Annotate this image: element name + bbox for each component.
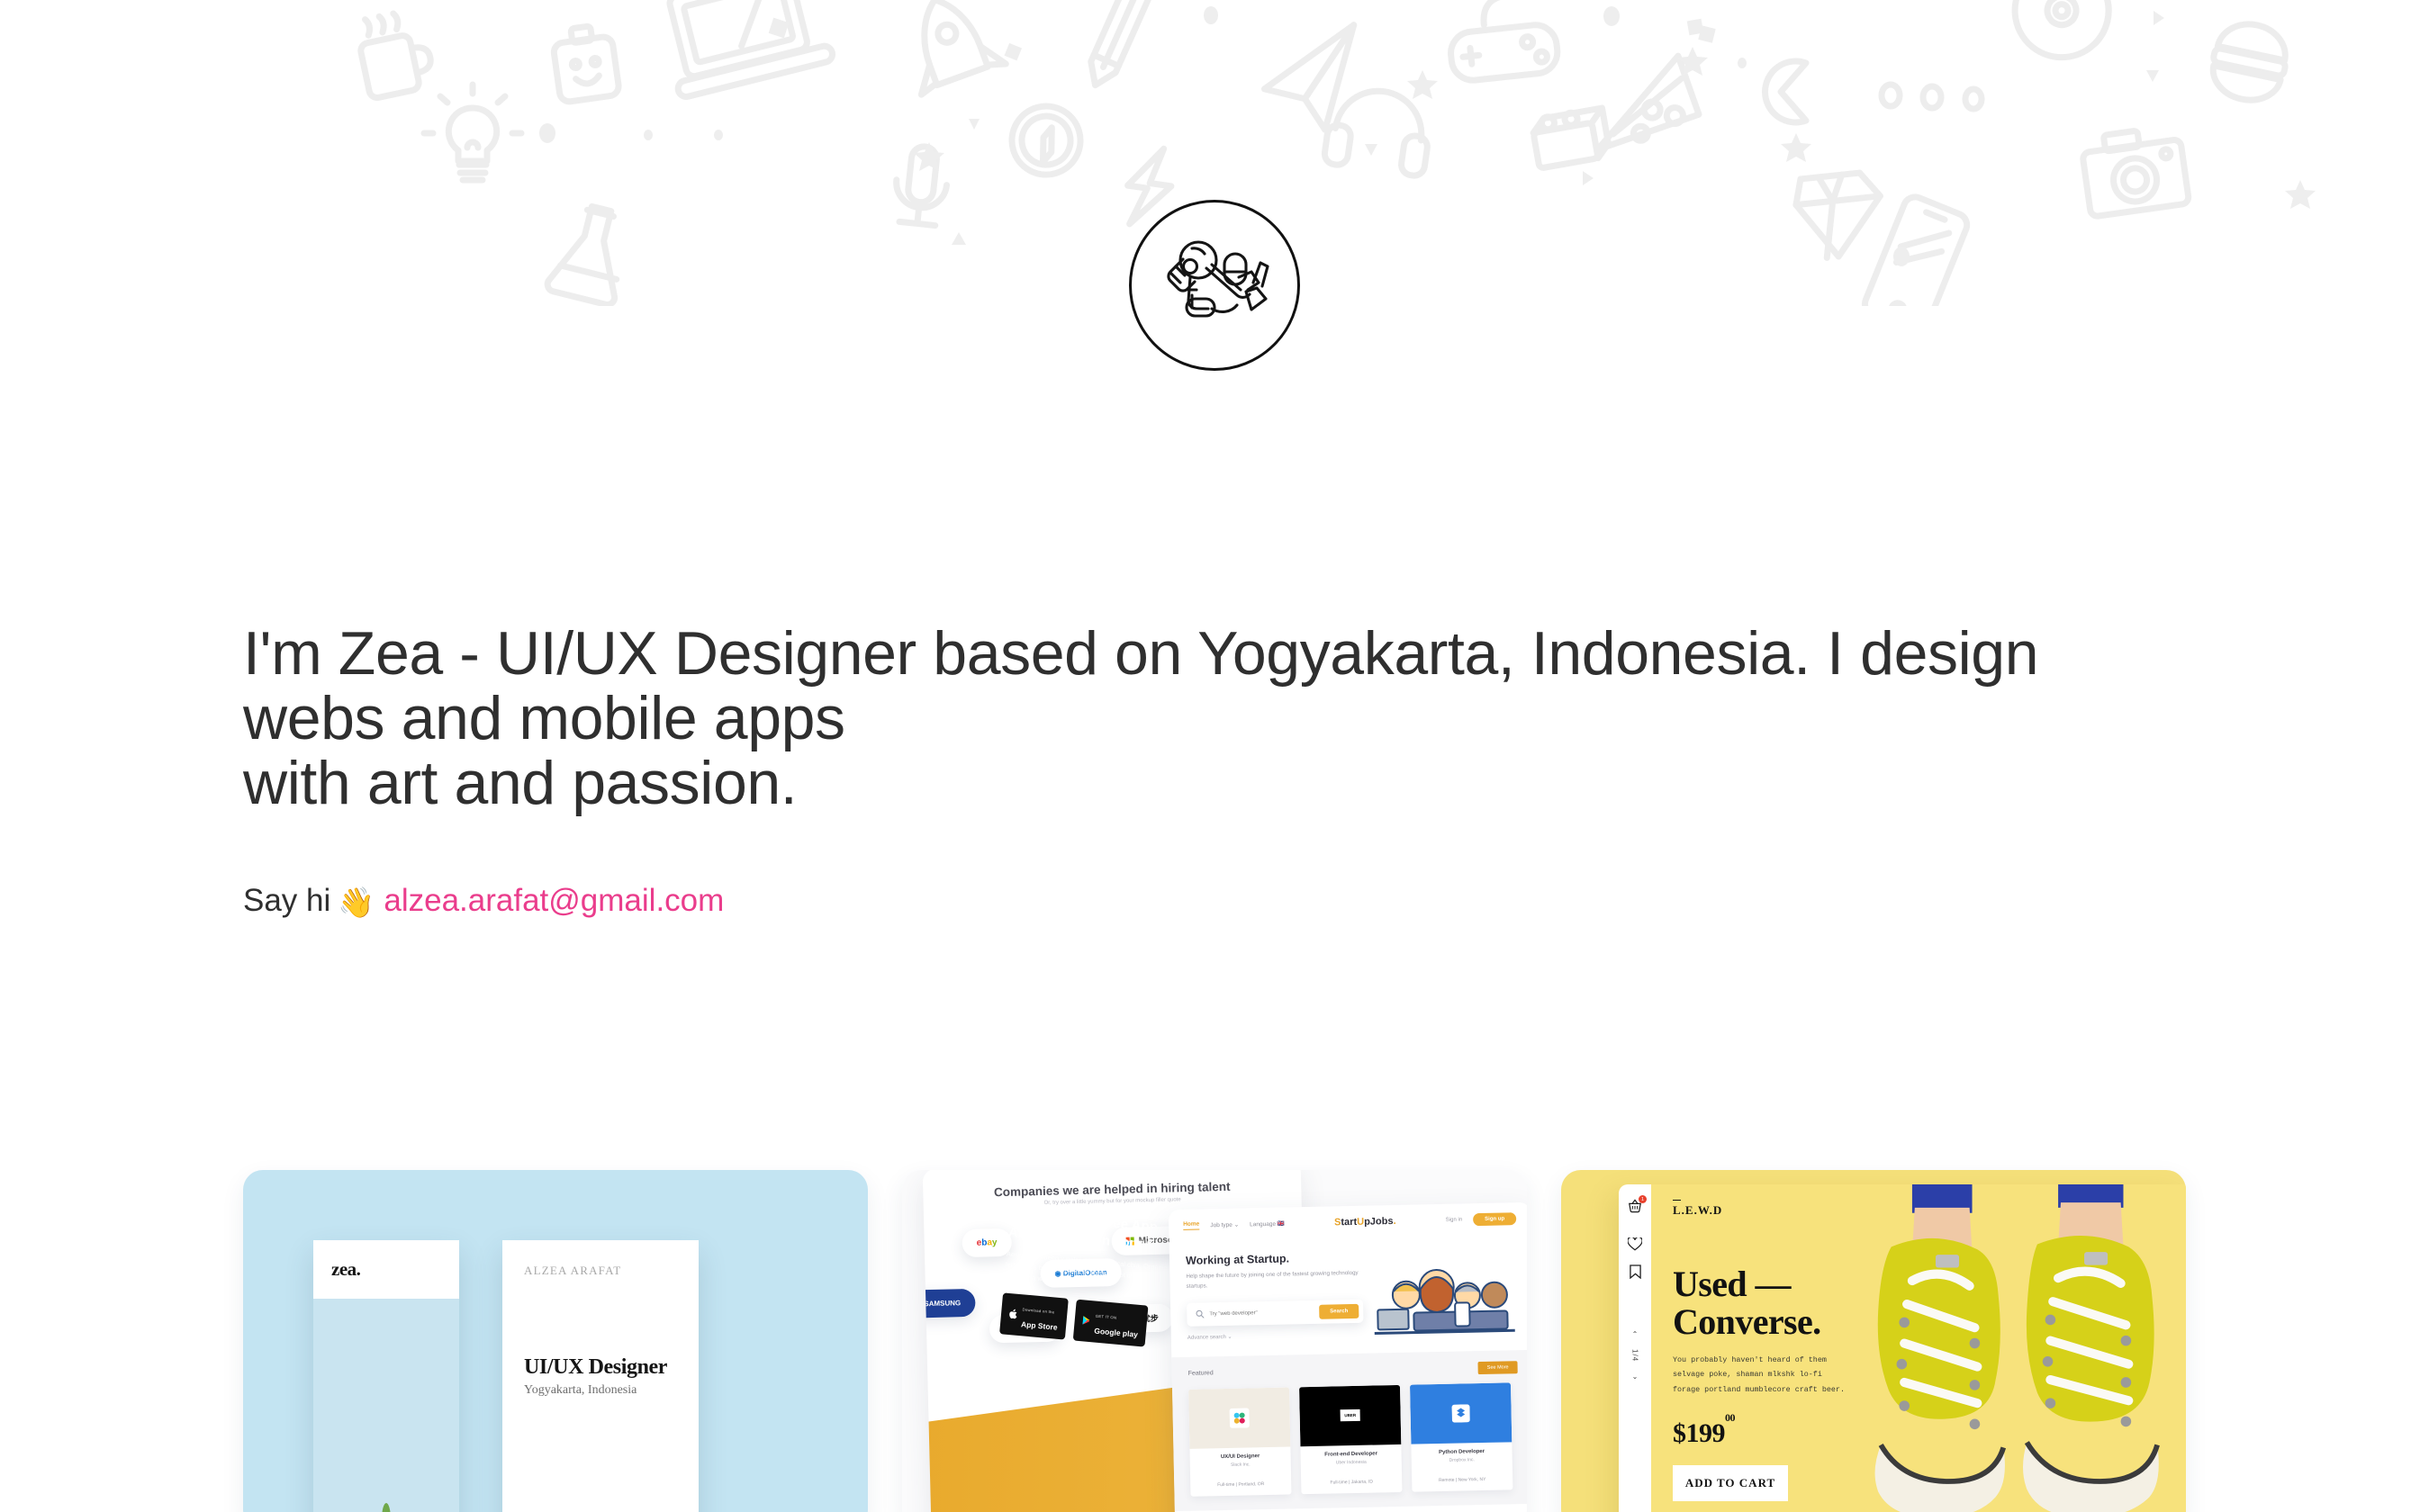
apple-icon [1009,1309,1018,1319]
square-icon [769,18,1716,61]
job-card-image [1188,1387,1290,1448]
chevron-down-icon: ⌄ [1227,1334,1232,1339]
diamond-icon [1793,171,1886,260]
job-company: Dropbox Inc. [1419,1456,1505,1463]
job-meta: Remote | New York, NY [1419,1476,1505,1483]
pagination-down-icon[interactable]: ⌄ [1632,1372,1639,1381]
succulent-photo [313,1299,459,1512]
sign-in-link[interactable]: Sign in [1446,1217,1462,1222]
logo-pill-ebay: ebay [962,1228,1012,1257]
sign-up-button[interactable]: Sign up [1473,1212,1516,1226]
site-hero: Working at Startup. Help shape the futur… [1169,1235,1527,1357]
app-store-badge[interactable]: Download on the App Store [999,1292,1068,1339]
job-title: UX/UI Designer [1197,1453,1284,1460]
burger-icon [2207,18,2293,107]
see-more-button[interactable]: See More [1478,1361,1518,1374]
slack-icon [1229,1408,1249,1427]
project-card-shop[interactable]: 1 ⌃ 1/4 ⌄ L.E. [1561,1170,2186,1512]
job-company: Uber Indonesia [1308,1459,1395,1466]
google-play-badge-small: GET IT ON [1096,1313,1117,1319]
cart-icon[interactable]: 1 [1628,1199,1642,1218]
lego-head-icon [551,23,619,103]
project-cards-row: zea. ALZEA ARAFAT [243,1170,2177,1512]
card-owner-name: ALZEA ARAFAT [524,1264,677,1278]
job-title: Front-end Developer [1308,1451,1395,1458]
nav-item-home[interactable]: Home [1183,1221,1199,1230]
avatar-ring [1129,200,1300,371]
camera-icon [2081,125,2190,217]
chevron-down-icon: ⌄ [1234,1222,1240,1228]
shop-page-mockup: 1 ⌃ 1/4 ⌄ L.E. [1619,1184,2186,1512]
pagination-value: 1/4 [1631,1349,1639,1362]
job-meta: Full-time | Jakarta, ID [1308,1479,1395,1486]
flask-icon [546,201,636,306]
microphone-icon [892,144,951,226]
pacman-icon [1765,61,1806,122]
coffee-mug-icon [355,8,437,99]
job-search-button[interactable]: Search [1319,1304,1359,1319]
gamepad-icon [1445,0,1559,82]
job-card-image [1410,1382,1512,1444]
job-card[interactable]: Python Developer Dropbox Inc. Remote | N… [1410,1382,1512,1491]
lightbulb-icon [424,85,521,180]
pizza-icon [1598,45,1709,166]
compass-icon [1004,98,1088,183]
job-search-bar[interactable]: Search [1187,1299,1364,1326]
play-icon [1082,1315,1091,1326]
advance-search-toggle[interactable]: Advance search ⌄ [1187,1330,1364,1340]
cart-count-badge: 1 [1639,1195,1647,1203]
smartphone-icon [1862,193,1971,306]
flag-icon: 🇬🇧 [1278,1221,1285,1228]
job-company: Slack Inc. [1197,1461,1284,1468]
brand-logo: zea. [331,1258,360,1281]
project-card-branding[interactable]: zea. ALZEA ARAFAT [243,1170,868,1512]
shop-brand-logo: L.E.W.D [1673,1203,1722,1218]
nav-item-language[interactable]: Language 🇬🇧 [1250,1220,1285,1228]
paper-plane-icon [1260,25,1361,134]
pagination-up-icon[interactable]: ⌃ [1632,1330,1639,1338]
contact-label: Say hi [243,880,330,922]
headphones-icon [1323,85,1434,177]
app-store-badge-small: Download on the [1022,1307,1054,1314]
featured-job-cards: UX/UI Designer Slack Inc. Full-time | Po… [1188,1382,1520,1497]
startupjobs-site-mockup: Home Job type ⌄ Language 🇬🇧 StartUpJobs.… [1169,1202,1527,1512]
dropbox-icon [1451,1404,1469,1422]
product-photo [1860,1184,2186,1512]
avatar [1129,200,1300,371]
job-card[interactable]: UBER Front-end Developer Uber Indonesia … [1299,1385,1402,1494]
job-card-image: UBER [1299,1385,1401,1446]
google-play-badge[interactable]: GET IT ON Google play [1072,1299,1148,1346]
business-card-front-header: zea. [313,1240,459,1299]
product-price-cents: 00 [1725,1411,1735,1424]
shop-pagination: ⌃ 1/4 ⌄ [1631,1330,1639,1381]
featured-label: Featured [1188,1370,1214,1377]
astronaut-illustration-icon [1156,227,1273,344]
contact-line: Say hi 👋 alzea.arafat@gmail.com [243,880,2179,922]
site-logo: StartUpJobs. [1334,1216,1396,1228]
rocket-icon [892,0,1006,94]
pencil-icon [1083,0,1151,91]
site-hero-body: Help shape the future by joining one of … [1186,1269,1362,1292]
product-price-main: $199 [1673,1418,1725,1448]
bookmark-icon[interactable] [1630,1264,1641,1283]
card-owner-role: UI/UX Designer [524,1355,677,1380]
product-description: You probably haven't heard of them selva… [1673,1353,1848,1397]
heart-icon[interactable] [1628,1237,1642,1255]
job-title: Python Developer [1419,1448,1505,1455]
star-icon [914,47,2316,209]
waving-hand-icon: 👋 [338,887,375,917]
shop-side-rail: 1 ⌃ 1/4 ⌄ [1619,1184,1651,1512]
search-icon [1196,1310,1204,1318]
business-card-front: zea. [313,1240,459,1512]
hero-section: I'm Zea - UI/UX Designer based on Yogyak… [243,621,2179,922]
shop-content: L.E.W.D Used — Converse. You probably ha… [1651,1184,2186,1512]
nav-item-job-type[interactable]: Job type ⌄ [1210,1221,1239,1229]
site-hero-heading: Working at Startup. [1186,1251,1362,1267]
dot-icon [1882,85,1982,109]
page-title: I'm Zea - UI/UX Designer based on Yogyak… [243,621,2179,815]
team-illustration [1371,1247,1517,1336]
project-card-jobs[interactable]: Companies we are helped in hiring talent… [902,1170,1527,1512]
lego-brick-icon [1531,107,1611,168]
card-owner-location: Yogyakarta, Indonesia [524,1383,677,1398]
cd-disc-icon [2006,0,2117,66]
add-to-cart-button[interactable]: ADD TO CART [1673,1465,1788,1501]
email-link[interactable]: alzea.arafat@gmail.com [384,880,724,922]
laptop-icon [656,0,835,98]
business-card-back: ALZEA ARAFAT UI/UX Designer Yogyakarta, … [502,1240,699,1512]
job-card[interactable]: UX/UI Designer Slack Inc. Full-time | Po… [1188,1387,1291,1496]
google-play-badge-large: Google play [1094,1326,1138,1338]
uber-icon: UBER [1340,1409,1360,1421]
job-search-input[interactable] [1209,1309,1314,1317]
app-store-badge-large: App Store [1021,1319,1058,1332]
logo-pill-samsung: SAMSUNG [923,1289,976,1318]
succulent-plant-icon [357,1503,415,1512]
featured-section: Featured See More UX/UI Des [1171,1349,1527,1510]
job-meta: Full-time | Portland, OR [1197,1480,1284,1488]
